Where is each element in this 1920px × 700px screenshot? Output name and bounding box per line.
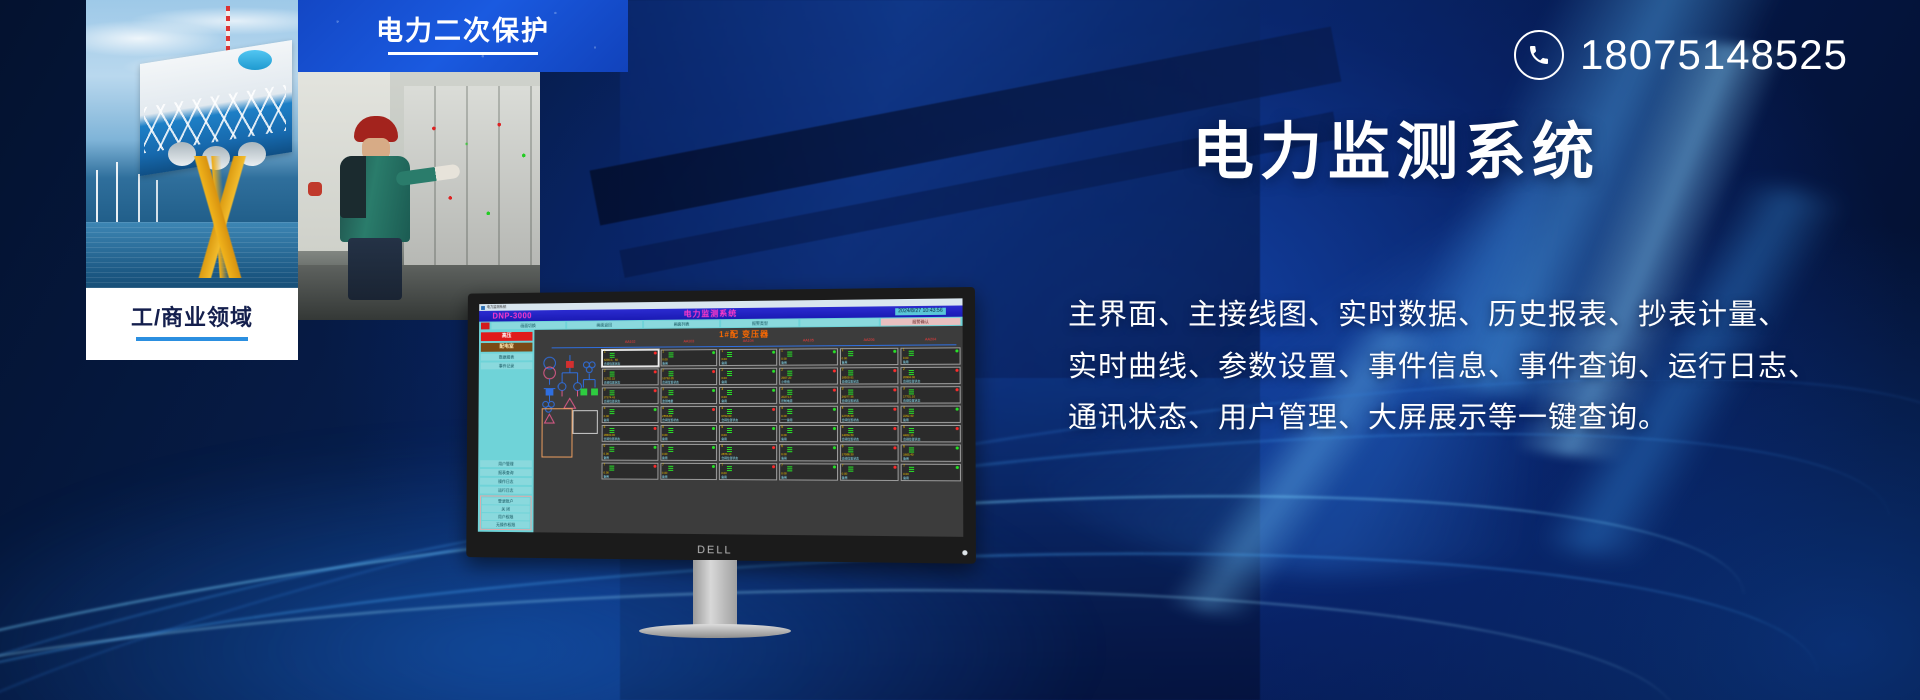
feeder-cell-label: 备用 [662,438,668,441]
feeder-cell-label: 合闸位置状态 [721,419,738,422]
feeder-cell[interactable]: 40.00一一备用 [779,406,837,423]
feeder-cell[interactable]: 50.00备用 [660,425,717,442]
column-header-4: AA206 [840,339,899,343]
feeder-cell[interactable]: 211702.15合闸位置状态 [602,368,658,385]
feeder-cell-bars [668,466,673,471]
diagram-feeder-cell-grid: 16290.0、60合闸位置状态10.00备用10.00备用10.00备用10.… [601,347,961,534]
scada-monitor: 电力监测系统 DNP-3000 电力监测系统 2024/8/27 10:43:5… [460,290,970,560]
feeder-cell-bars [787,409,792,414]
status-lamp-red-icon [772,446,775,449]
feeder-cell-label: 合闸位置状态 [604,381,620,384]
status-lamp-red-icon [832,369,835,372]
feeder-cell-number: 6 [781,445,783,448]
status-lamp-green-icon [833,446,836,449]
column-header-0: AA102 [602,341,658,345]
page-title: 电力监测系统 [1192,122,1600,184]
sidebar-item-report-query[interactable]: 报表查询 [480,469,532,476]
feeder-cell[interactable]: 42262.40备用 [901,406,961,423]
monitor-bezel: 电力监测系统 DNP-3000 电力监测系统 2024/8/27 10:43:5… [466,287,976,564]
status-lamp-red-icon [894,408,897,411]
feeder-cell-label: 控制电源 [781,400,792,403]
feeder-cell-label: 备用 [842,476,848,479]
feeder-cell-label: 合闸位置状态 [604,438,620,441]
scada-clock: 2024/8/27 10:43:56 [895,308,946,316]
status-lamp-green-icon [712,389,715,392]
feeder-cell[interactable]: 50.00备用 [719,425,777,442]
feeder-cell[interactable]: 70.00备用 [779,463,838,480]
status-lamp-green-icon [772,370,775,373]
feeder-cell-bars [787,352,792,357]
status-lamp-red-icon [894,466,897,469]
feeder-cell-label: 监测电量 [662,400,673,403]
feeder-cell-label: 合闸位置状态 [842,399,859,402]
feeder-cell[interactable]: 46702.60合闸位置状态 [719,406,777,423]
feeder-cell-label: 合闸位置状态 [842,419,859,422]
feeder-cell-number: 4 [721,407,723,410]
feeder-cell-number: 7 [721,464,723,467]
menu-item-1[interactable]: 画面返回 [567,321,642,329]
feeder-cell-number: 6 [604,445,606,448]
feeder-cell[interactable]: 50.00备用 [779,425,838,442]
feeder-cell-number: 4 [842,407,844,410]
feeder-cell-label: 备用 [603,475,608,478]
status-lamp-green-icon [956,408,959,411]
status-lamp-green-icon [955,349,958,352]
feeder-cell-label: 备用 [721,362,727,365]
feeder-cell-label: 备用 [781,457,787,460]
feeder-cell-bars [668,352,673,357]
feeder-cell-number: 5 [662,426,664,429]
status-lamp-red-icon [956,427,959,430]
status-lamp-green-icon [772,389,775,392]
power-led-icon[interactable] [962,550,967,555]
feeder-cell-number: 4 [662,407,664,410]
feeder-cell-bars [727,371,732,376]
card-industrial-commercial-caption: 工/商业领域 [86,288,298,360]
feeder-cell-bars [609,466,614,471]
feeder-cell-number: 5 [781,426,783,429]
status-lamp-red-icon [894,369,897,372]
feeder-cell-number: 4 [781,407,783,410]
feeder-cell-bars [727,352,732,357]
feeder-cell-number: 1 [721,350,723,353]
status-lamp-green-icon [653,446,656,449]
feeder-cell-bars [848,351,853,356]
sidebar-button-distribution-room[interactable]: 配电室 [481,343,533,352]
feeder-cell-number: 4 [903,407,905,410]
monitor-screen: 电力监测系统 DNP-3000 电力监测系统 2024/8/27 10:43:5… [478,298,963,537]
feeder-cell-label: 合闸位置状态 [842,380,859,383]
feeder-cell[interactable]: 20.00备用 [719,368,777,385]
diagram-transformer-symbols [537,349,600,529]
sidebar-item-run-log[interactable]: 运行日志 [480,487,532,494]
status-lamp-red-icon [833,389,836,392]
feeder-cell-number: 7 [662,464,664,467]
feeder-cell[interactable]: 317701.10合闸位置状态 [901,386,961,404]
feeder-cell[interactable]: 10.00备用 [840,348,899,366]
card-power-secondary-protection-caption: 电力二次保护 [298,0,628,72]
description-line-1: 主界面、主接线图、实时数据、历史报表、抄表计量、 [1068,290,1858,342]
card-caption-label: 工/商业领域 [131,307,253,329]
feeder-cell-number: 7 [603,464,605,467]
feeder-cell-label: 合闸位置状态 [903,438,920,441]
status-lamp-red-icon [955,388,958,391]
feeder-cell-label: 备用 [662,457,668,460]
phone-number: 18075148525 [1580,34,1848,76]
feeder-cell-label: 备用 [903,457,909,460]
monitor-stand-base [639,624,791,638]
feeder-cell[interactable]: 218500.61合闸位置状态 [840,367,899,384]
feeder-cell[interactable]: 10.00备用 [660,349,717,366]
feeder-cell-label: 备用 [662,475,668,478]
feeder-cell-number: 2 [662,369,664,372]
feeder-cell-label: 备用 [721,400,727,403]
feeder-cell-label: 合闸位置状态 [903,380,920,383]
status-lamp-red-icon [894,427,897,430]
description-line-2: 实时曲线、参数设置、事件信息、事件查询、运行日志、 [1068,342,1858,394]
column-header-5: AA204 [901,338,961,342]
feeder-cell-number: 2 [781,369,783,372]
feeder-cell[interactable]: 62876.10合闸位置状态 [719,444,777,461]
status-lamp-green-icon [712,351,715,354]
feeder-cell-number: 6 [842,445,844,448]
feeder-cell[interactable]: 54402.10合闸位置状态 [901,425,961,442]
feeder-cell[interactable]: 514054.50合闸位置状态 [840,425,899,442]
feeder-cell-number: 1 [662,350,664,353]
feeder-cell-label: 备用 [842,361,848,364]
menu-item-3[interactable]: 报警类型 [722,319,799,327]
feeder-cell-label: 合闸位置状态 [842,438,859,441]
status-lamp-green-icon [653,408,656,411]
status-lamp-green-icon [833,465,836,468]
status-lamp-green-icon [772,351,775,354]
sidebar-item-close[interactable]: 关 闭 [482,505,530,512]
column-header-1: AA103 [660,340,717,344]
feeder-cell-label: 备用 [781,438,787,441]
feeder-cell-label: 备用 [903,419,909,422]
feeder-cell-number: 3 [903,387,905,390]
status-lamp-red-icon [894,446,897,449]
status-lamp-green-icon [712,465,715,468]
scada-sidebar[interactable]: 高压 配电室 数据报表 事件记录 用户管理 报表查询 操作日志 运行日志 登录账… [478,330,535,532]
promo-banner: 电力二次保护 工/商业领域 [0,0,1920,700]
status-lamp-green-icon [956,466,959,469]
sidebar-item-no-operation-rights[interactable]: 无操作权限 [482,521,530,528]
feeder-cell[interactable]: 320271.4控制电源 [779,387,837,404]
sidebar-spacer [480,371,532,458]
feeder-cell-number: 6 [721,445,723,448]
feeder-cell[interactable]: 60.00备用 [602,444,659,461]
feature-description: 主界面、主接线图、实时数据、历史报表、抄表计量、 实时曲线、参数设置、事件信息、… [1068,290,1858,445]
home-icon[interactable] [481,323,490,330]
feeder-cell-label: 合闸位置状态 [662,419,679,422]
feeder-cell-number: 6 [903,445,905,448]
feeder-cell-label: 备用 [721,381,727,384]
feeder-cell-bars [727,466,732,471]
status-lamp-red-icon [653,370,656,373]
feeder-cell-label: 备用 [781,361,787,364]
status-lamp-red-icon [772,408,775,411]
feeder-cell[interactable]: 16290.0、60合闸位置状态 [602,350,658,367]
feeder-cell[interactable]: 210762.05合闸位置状态 [660,368,717,385]
feeder-cell[interactable]: 617086.50合闸位置状态 [840,444,899,461]
feeder-cell[interactable]: 60.00备用 [779,444,838,461]
status-lamp-green-icon [712,446,715,449]
feeder-cell[interactable]: 220904.06合闸位置状态 [901,367,961,385]
menu-item-0[interactable]: 画面切换 [491,322,565,330]
feeder-cell[interactable]: 70.00备用 [719,463,777,480]
feeder-cell-bars [609,447,614,452]
caption-underline [388,52,538,55]
feeder-cell-number: 7 [842,465,844,468]
feeder-cell-label: 备用 [604,456,609,459]
feeder-cell[interactable]: 326077.55合闸位置状态 [840,386,899,403]
scada-single-line-diagram: 1#配 变压器 AA102 AA103 AA104 AA105 AA206 AA… [533,326,963,537]
column-header-3: AA105 [779,339,837,343]
caption-underline [136,337,248,341]
sidebar-button-high-voltage[interactable]: 高压 [481,332,533,341]
feeder-cell-bars [727,428,732,433]
feeder-cell-number: 1 [781,350,783,353]
sidebar-item-operation-log[interactable]: 操作日志 [480,478,532,485]
feeder-cell-label: 小母线 [781,380,789,383]
status-lamp-red-icon [712,408,715,411]
feeder-cell-label: 备用 [903,477,909,480]
feeder-cell-number: 1 [604,351,606,354]
feeder-cell-bars [787,466,792,471]
scada-application: 电力监测系统 DNP-3000 电力监测系统 2024/8/27 10:43:5… [478,298,963,537]
sidebar-item-user-management[interactable]: 用户管理 [480,460,532,467]
feeder-cell-number: 4 [604,407,606,410]
feeder-cell-bars [668,428,673,433]
scada-window-title: 电力监测系统 [487,306,506,310]
monitor-brand-label: DELL [697,544,732,556]
phone-circle-icon [1514,30,1564,80]
feeder-cell[interactable]: 70.00备用 [601,463,658,480]
menu-item-4[interactable] [801,319,879,327]
feeder-cell[interactable]: 60.00备用 [660,444,717,461]
feeder-cell-bars [610,409,615,414]
feeder-cell[interactable]: 327174.41合闸位置状态 [602,387,659,404]
feeder-cell-number: 3 [721,388,723,391]
status-lamp-green-icon [833,408,836,411]
feeder-cell-number: 3 [604,388,606,391]
feeder-cell[interactable]: 70.00备用 [660,463,717,480]
feeder-cell-number: 2 [604,370,606,373]
feeder-cell[interactable]: 40.00备用 [602,406,659,423]
contact-phone[interactable]: 18075148525 [1514,30,1848,80]
feeder-cell[interactable]: 10.00备用 [901,347,961,365]
status-lamp-green-icon [833,427,836,430]
feeder-cell[interactable]: 30.00监测电量 [660,387,717,404]
feeder-cell-number: 5 [842,426,844,429]
feeder-cell-label: 合闸位置状态 [721,457,738,460]
scada-app-name: DNP-3000 [492,312,532,320]
sidebar-item-event-record[interactable]: 事件记录 [481,362,533,369]
feeder-cell-number: 7 [903,465,905,468]
card-power-secondary-protection-photo [298,72,540,320]
status-lamp-red-icon [653,427,656,430]
feeder-cell-number: 5 [903,426,905,429]
card-industrial-commercial-photo [86,0,298,318]
feeder-cell-bars [909,467,914,472]
status-lamp-red-icon [772,465,775,468]
status-lamp-red-icon [712,370,715,373]
feeder-cell-label: 合闸位置状态 [662,381,679,384]
menu-item-2[interactable]: 画面列表 [644,320,720,328]
feeder-cell[interactable]: 70.00备用 [840,463,899,481]
status-lamp-green-icon [712,427,715,430]
feeder-cell[interactable]: 518600.00合闸位置状态 [602,425,659,442]
status-lamp-red-icon [894,388,897,391]
feeder-cell[interactable]: 70.00备用 [901,464,961,482]
status-lamp-green-icon [772,427,775,430]
feeder-cell-label: 备用 [721,438,727,441]
feeder-cell-label: 备用 [721,476,727,479]
feeder-cell-number: 5 [604,426,606,429]
feeder-cell-bars [727,390,732,395]
status-lamp-red-icon [653,352,656,355]
feeder-cell-number: 3 [842,388,844,391]
sidebar-item-data-report[interactable]: 数据报表 [481,353,533,360]
status-lamp-red-icon [653,465,656,468]
feeder-cell-number: 1 [842,349,844,352]
status-lamp-red-icon [653,389,656,392]
feeder-cell-bars [909,351,914,356]
status-lamp-red-icon [955,369,958,372]
feeder-cell-bars [787,447,792,452]
feeder-cell-number: 3 [662,388,664,391]
description-line-3: 通讯状态、用户管理、大屏展示等一键查询。 [1068,393,1858,445]
feeder-cell-label: 合闸位置状态 [842,457,859,460]
sidebar-item-user-rights[interactable]: 用户权限 [482,513,530,520]
feeder-cell[interactable]: 42556.80合闸位置状态 [660,406,717,423]
sidebar-account-group[interactable]: 登录账户 关 闭 用户权限 无操作权限 [480,495,532,530]
feeder-cell-number: 7 [781,464,783,467]
feeder-cell-number: 1 [903,349,905,352]
feeder-cell-label: 备用 [903,361,909,364]
feeder-cell-number: 2 [721,369,723,372]
feeder-cell-number: 3 [781,388,783,391]
menu-item-alarm-ack[interactable]: 报警确认 [881,318,960,326]
feeder-cell-number: 2 [842,368,844,371]
feeder-cell-label: 备用 [662,362,668,365]
status-lamp-green-icon [894,350,897,353]
feeder-cell[interactable]: 412705.90合闸位置状态 [840,406,899,423]
diagram-highlight-box-1 [541,408,572,457]
feeder-cell[interactable]: 61605.40备用 [901,444,961,462]
feeder-cell-label: 合闸位置状态 [604,362,620,365]
feeder-cell-number: 6 [662,445,664,448]
feeder-cell-number: 2 [903,368,905,371]
feeder-cell-label: 一一备用 [781,419,792,422]
feeder-cell-bars [668,447,673,452]
feeder-cell[interactable]: 30.00备用 [719,387,777,404]
status-lamp-green-icon [832,350,835,353]
monitor-stand-neck [693,560,737,628]
feeder-cell-label: 合闸位置状态 [903,399,920,402]
feeder-cell-bars [848,467,853,472]
feeder-cell-label: 合闸位置状态 [604,400,620,403]
feeder-cell[interactable]: 22907.20小母线 [779,367,837,384]
feeder-cell-label: 备用 [604,419,609,422]
feeder-cell-number: 5 [721,426,723,429]
feeder-cell[interactable]: 10.00备用 [719,349,777,366]
diagram-highlight-box-2 [573,410,598,434]
feeder-cell-bars [787,428,792,433]
feeder-cell[interactable]: 10.00备用 [779,348,837,365]
status-lamp-green-icon [956,446,959,449]
sidebar-item-login-account[interactable]: 登录账户 [482,497,530,504]
card-caption-label: 电力二次保护 [376,18,550,45]
column-header-2: AA104 [719,340,777,344]
feeder-cell-bars [668,390,673,395]
app-icon [481,306,485,310]
feeder-cell-label: 备用 [781,476,787,479]
